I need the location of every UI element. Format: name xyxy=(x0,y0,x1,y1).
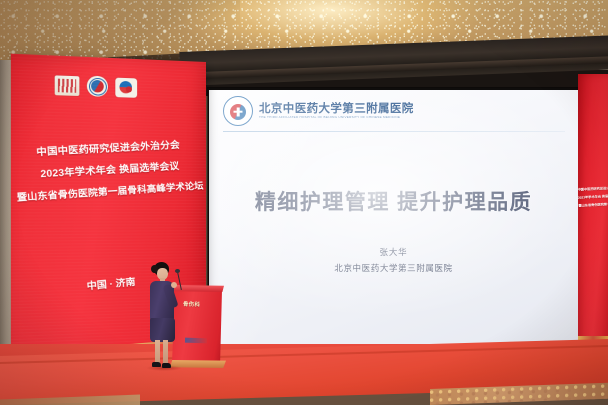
speaker-leg-right xyxy=(163,340,168,364)
banner-right-text-block: 中国中医药研究促进会外治分会 2023年学术年会 换届选举会议 暨山东省骨伤医院… xyxy=(578,185,608,211)
banner-right-line-2: 2023年学术年会 换届选举会议 xyxy=(578,193,608,200)
hospital-name-cn: 北京中医药大学第三附属医院 xyxy=(259,103,414,115)
speaker-hand xyxy=(171,282,177,288)
slide-speaker-name: 张大华 xyxy=(209,246,578,258)
banner-left-line-3: 暨山东省骨伤医院第一届骨科高峰学术论坛 xyxy=(12,177,206,204)
banner-left-text-block: 中国中医药研究促进会外治分会 2023年学术年会 换届选举会议 暨山东省骨伤医院… xyxy=(11,136,206,205)
slide-title: 精细护理管理 提升护理品质 xyxy=(209,186,578,216)
hospital-name-block: 北京中医药大学第三附属医院 THE THIRD AFFILIATED HOSPI… xyxy=(259,103,414,119)
hospital-emblem-cross xyxy=(237,107,240,116)
banner-right-line-1: 中国中医药研究促进会外治分会 xyxy=(578,185,608,192)
banner-left-line-1: 中国中医药研究促进会外治分会 xyxy=(11,136,205,160)
slide-header-divider xyxy=(223,131,565,132)
banner-left-line-2: 2023年学术年会 换届选举会议 xyxy=(11,157,206,183)
speaker-shoe-left xyxy=(152,362,161,367)
podium-badge xyxy=(185,338,207,344)
taiji-emblem-icon xyxy=(115,77,137,97)
hospital-emblem-icon xyxy=(223,96,253,126)
slide-speaker-affiliation: 北京中医药大学第三附属医院 xyxy=(209,262,578,274)
banner-left-logo-row xyxy=(55,74,137,97)
banner-right: 中国中医药研究促进会外治分会 2023年学术年会 换届选举会议 暨山东省骨伤医院… xyxy=(578,74,608,346)
speaker-figure xyxy=(140,262,184,370)
podium-logo: 骨伤科 xyxy=(183,300,200,309)
projection-screen: 北京中医药大学第三附属医院 THE THIRD AFFILIATED HOSPI… xyxy=(209,90,578,347)
speaker-shoe-right xyxy=(162,363,171,368)
banner-right-line-3: 暨山东省骨伤医院第一届骨科高峰学术论坛 xyxy=(578,201,608,208)
hospital-name-en: THE THIRD AFFILIATED HOSPITAL OF BEIJING… xyxy=(259,116,414,119)
speaker-skirt xyxy=(150,318,175,342)
slide-header: 北京中医药大学第三附属医院 THE THIRD AFFILIATED HOSPI… xyxy=(209,90,578,132)
speaker-leg-left xyxy=(155,340,160,364)
conference-stage-photo: 北京中医药大学第三附属医院 THE THIRD AFFILIATED HOSPI… xyxy=(0,0,608,405)
tcm-circular-emblem-icon xyxy=(87,76,108,97)
association-emblem-icon xyxy=(55,75,80,96)
